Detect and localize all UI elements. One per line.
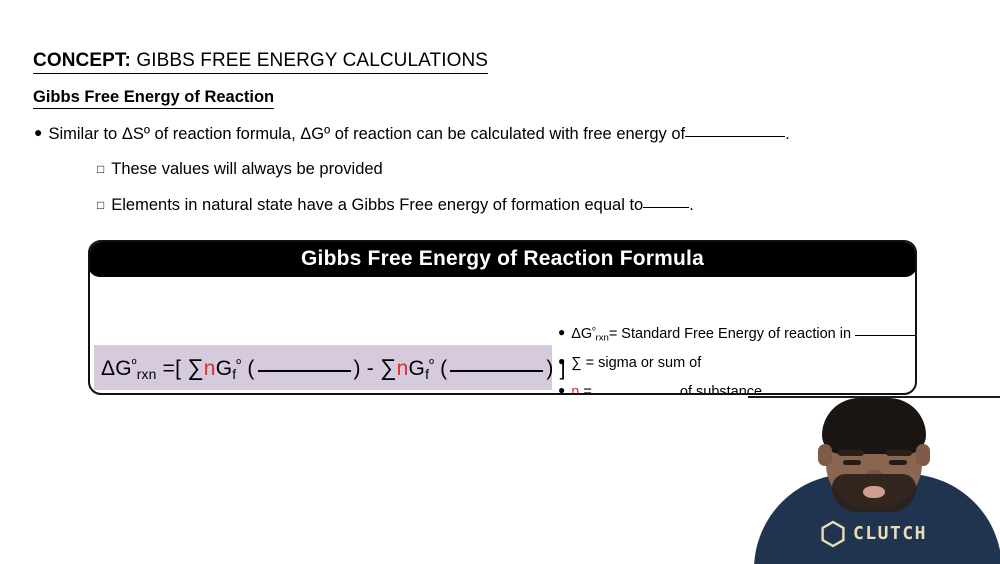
bullet-text-tail: . [785,125,790,143]
formula-box-header: Gibbs Free Energy of Reaction Formula [88,240,917,277]
clutch-wordmark: CLUTCH [853,525,927,543]
sigma-icon: ∑ [187,354,204,380]
square-bullet-icon: □ [97,162,104,176]
legend-symbol: n [571,384,579,395]
equation-blank-2 [450,370,543,372]
equation-paren-open-2: ( [440,357,447,380]
fill-in-blank [855,335,917,336]
instructor-ear-right [916,444,930,466]
slide-canvas: CONCEPT: GIBBS FREE ENERGY CALCULATIONS … [0,0,1000,562]
instructor-eyebrow-right [886,450,912,456]
concept-label: CONCEPT: [33,50,131,71]
equation-lhs-subscript: rxn [137,366,157,382]
legend-text-tail: of substance [680,384,762,395]
bullet-item-sub-1: □These values will always be provided [97,160,383,180]
instructor-eye-left [843,460,861,465]
fill-in-blank [685,136,785,137]
equation-coefficient-1: n [204,357,216,380]
concept-title-text: GIBBS FREE ENERGY CALCULATIONS [136,50,488,71]
equation-operator: - [367,357,374,380]
bullet-dot-icon: ● [558,383,565,395]
section-title: Gibbs Free Energy of Reaction [33,88,274,109]
page-title: CONCEPT: GIBBS FREE ENERGY CALCULATIONS [33,50,488,74]
instructor-eye-right [889,460,907,465]
formula-box-title: Gibbs Free Energy of Reaction Formula [301,247,704,271]
bullet-item-sub-2: □Elements in natural state have a Gibbs … [97,196,694,216]
instructor-video: CLUTCH [748,398,1000,564]
equation-highlight: ΔGºrxn =[ ∑nGfº () - ∑nGfº () ] [94,345,552,390]
instructor-mouth [863,486,885,498]
legend-item-sigma: ●∑ = sigma or sum of [558,354,701,372]
instructor-eyebrow-left [838,450,864,456]
webcam-overlay[interactable]: CLUTCH [748,396,1000,564]
equation-g-symbol-1: G [216,357,233,380]
equation-g-symbol-2: G [409,357,426,380]
equation-g-superscript-2: º [429,356,434,371]
equation-coefficient-2: n [397,357,409,380]
legend-item-delta-g: ●ΔGºrxn= Standard Free Energy of reactio… [558,325,917,343]
instructor-ear-left [818,444,832,466]
square-bullet-icon: □ [97,198,104,212]
gibbs-equation: ΔGºrxn =[ ∑nGfº () - ∑nGfº () ] [94,354,566,381]
sigma-icon: ∑ [571,355,581,371]
bullet-item-primary: ●Similar to ΔSº of reaction formula, ΔGº… [34,124,790,145]
instructor-hair [822,398,926,454]
equation-paren-close-1: ) [354,357,361,380]
equation-equals-bracket: =[ [163,357,182,380]
legend-text: = Standard Free Energy of reaction in [609,326,851,342]
formula-box-body: ΔGºrxn =[ ∑nGfº () - ∑nGfº () ] ●ΔGºrxn=… [90,279,915,393]
equation-paren-open-1: ( [247,357,254,380]
equation-paren-close-2: ) [546,357,553,380]
hexagon-icon [820,520,846,548]
sigma-icon: ∑ [380,354,397,380]
fill-in-blank [596,393,676,394]
bullet-text: These values will always be provided [111,160,382,178]
legend-text: = sigma or sum of [586,355,702,371]
fill-in-blank [643,207,689,208]
formula-box: Gibbs Free Energy of Reaction Formula ΔG… [88,240,917,395]
bullet-text: Similar to ΔSº of reaction formula, ΔGº … [48,125,685,143]
clutch-logo: CLUTCH [820,520,927,548]
bullet-dot-icon: ● [34,124,42,140]
bullet-dot-icon: ● [558,354,565,368]
legend-symbol-subscript: rxn [596,333,609,344]
bullet-text: Elements in natural state have a Gibbs F… [111,196,643,214]
bullet-dot-icon: ● [558,325,565,339]
legend-item-n: ●n = of substance [558,383,762,395]
equation-lhs-symbol: ΔG [101,357,132,380]
equation-blank-1 [258,370,351,372]
bullet-text-tail: . [689,196,694,214]
equation-g-superscript-1: º [236,356,241,371]
legend-symbol: ΔG [571,326,592,342]
legend-text: = [583,384,591,395]
